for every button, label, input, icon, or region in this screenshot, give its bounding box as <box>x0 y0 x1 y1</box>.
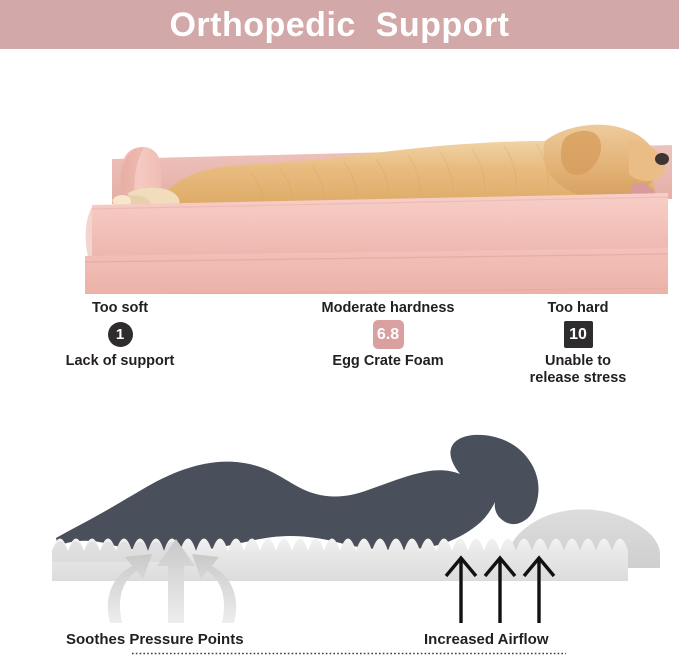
scale-soft-badge-row: 1 <box>20 320 220 350</box>
scale-point-hard: Too hard 10 Unable to release stress <box>478 300 678 387</box>
scale-soft-badge: 1 <box>108 322 133 347</box>
scale-moderate-badge-row: 6.8 <box>288 320 488 350</box>
hardness-scale: Too soft 1 Lack of support Moderate hard… <box>0 300 679 418</box>
diagram-captions: Soothes Pressure Points Increased Airflo… <box>0 632 679 657</box>
scale-moderate-top-label: Moderate hardness <box>288 300 488 317</box>
scale-hard-bottom-line1: Unable to <box>478 353 678 370</box>
dog-silhouette-icon <box>56 435 539 552</box>
scale-hard-bottom-label: Unable to release stress <box>478 353 678 387</box>
scale-hard-bottom-line2: release stress <box>478 370 678 387</box>
dog-bed-photo-illustration <box>0 49 679 294</box>
caption-increased-airflow: Increased Airflow <box>424 632 548 647</box>
scale-point-soft: Too soft 1 Lack of support <box>20 300 220 370</box>
scale-hard-badge-row: 10 <box>478 320 678 350</box>
scale-hard-badge: 10 <box>564 321 593 348</box>
scale-moderate-badge: 6.8 <box>373 320 404 349</box>
scale-point-moderate: Moderate hardness 6.8 Egg Crate Foam <box>288 300 488 370</box>
product-photo <box>0 49 679 294</box>
airflow-arrows-icon <box>446 558 554 623</box>
scale-moderate-bottom-label: Egg Crate Foam <box>288 353 488 370</box>
scale-soft-bottom-label: Lack of support <box>20 353 220 370</box>
header-banner: Orthopedic Support <box>0 0 679 49</box>
scale-hard-top-label: Too hard <box>478 300 678 317</box>
foam-cross-section-diagram <box>0 418 679 623</box>
caption-soothes-pressure-points: Soothes Pressure Points <box>66 632 244 647</box>
page-title: Orthopedic Support <box>169 8 509 42</box>
scale-soft-top-label: Too soft <box>20 300 220 317</box>
